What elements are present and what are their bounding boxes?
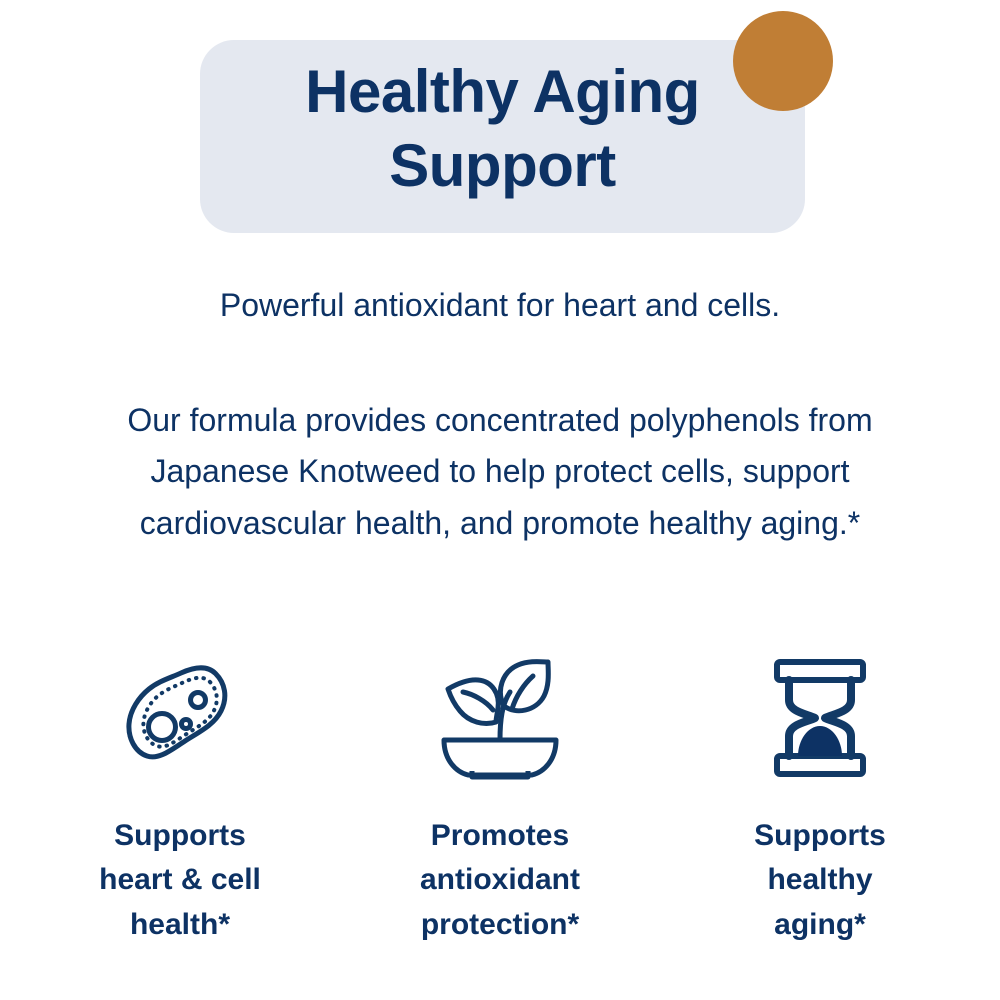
benefit-label: Supports heart & cell health*: [99, 814, 261, 947]
tagline-text: Powerful antioxidant for heart and cells…: [0, 285, 1000, 327]
benefits-row: Supports heart & cell health* Promotes a…: [0, 648, 1000, 947]
copy-block: Powerful antioxidant for heart and cells…: [0, 285, 1000, 550]
benefit-item: Supports heart & cell health*: [20, 648, 340, 947]
benefit-label: Supports healthy aging*: [754, 814, 886, 947]
benefit-item: Supports healthy aging*: [660, 648, 980, 947]
cell-icon: [121, 648, 239, 788]
page-title: Healthy Aging Support: [200, 55, 805, 217]
product-benefits-panel: Healthy Aging Support Powerful antioxida…: [0, 0, 1000, 1000]
header-zone: Healthy Aging Support: [0, 0, 1000, 250]
benefit-label: Promotes antioxidant protection*: [420, 814, 580, 947]
orange-accent-circle-icon: [733, 11, 833, 111]
bowl-plant-icon: [434, 648, 566, 788]
hourglass-icon: [765, 648, 875, 788]
description-text: Our formula provides concentrated polyph…: [70, 395, 930, 550]
benefit-item: Promotes antioxidant protection*: [340, 648, 660, 947]
title-badge: Healthy Aging Support: [200, 40, 805, 233]
